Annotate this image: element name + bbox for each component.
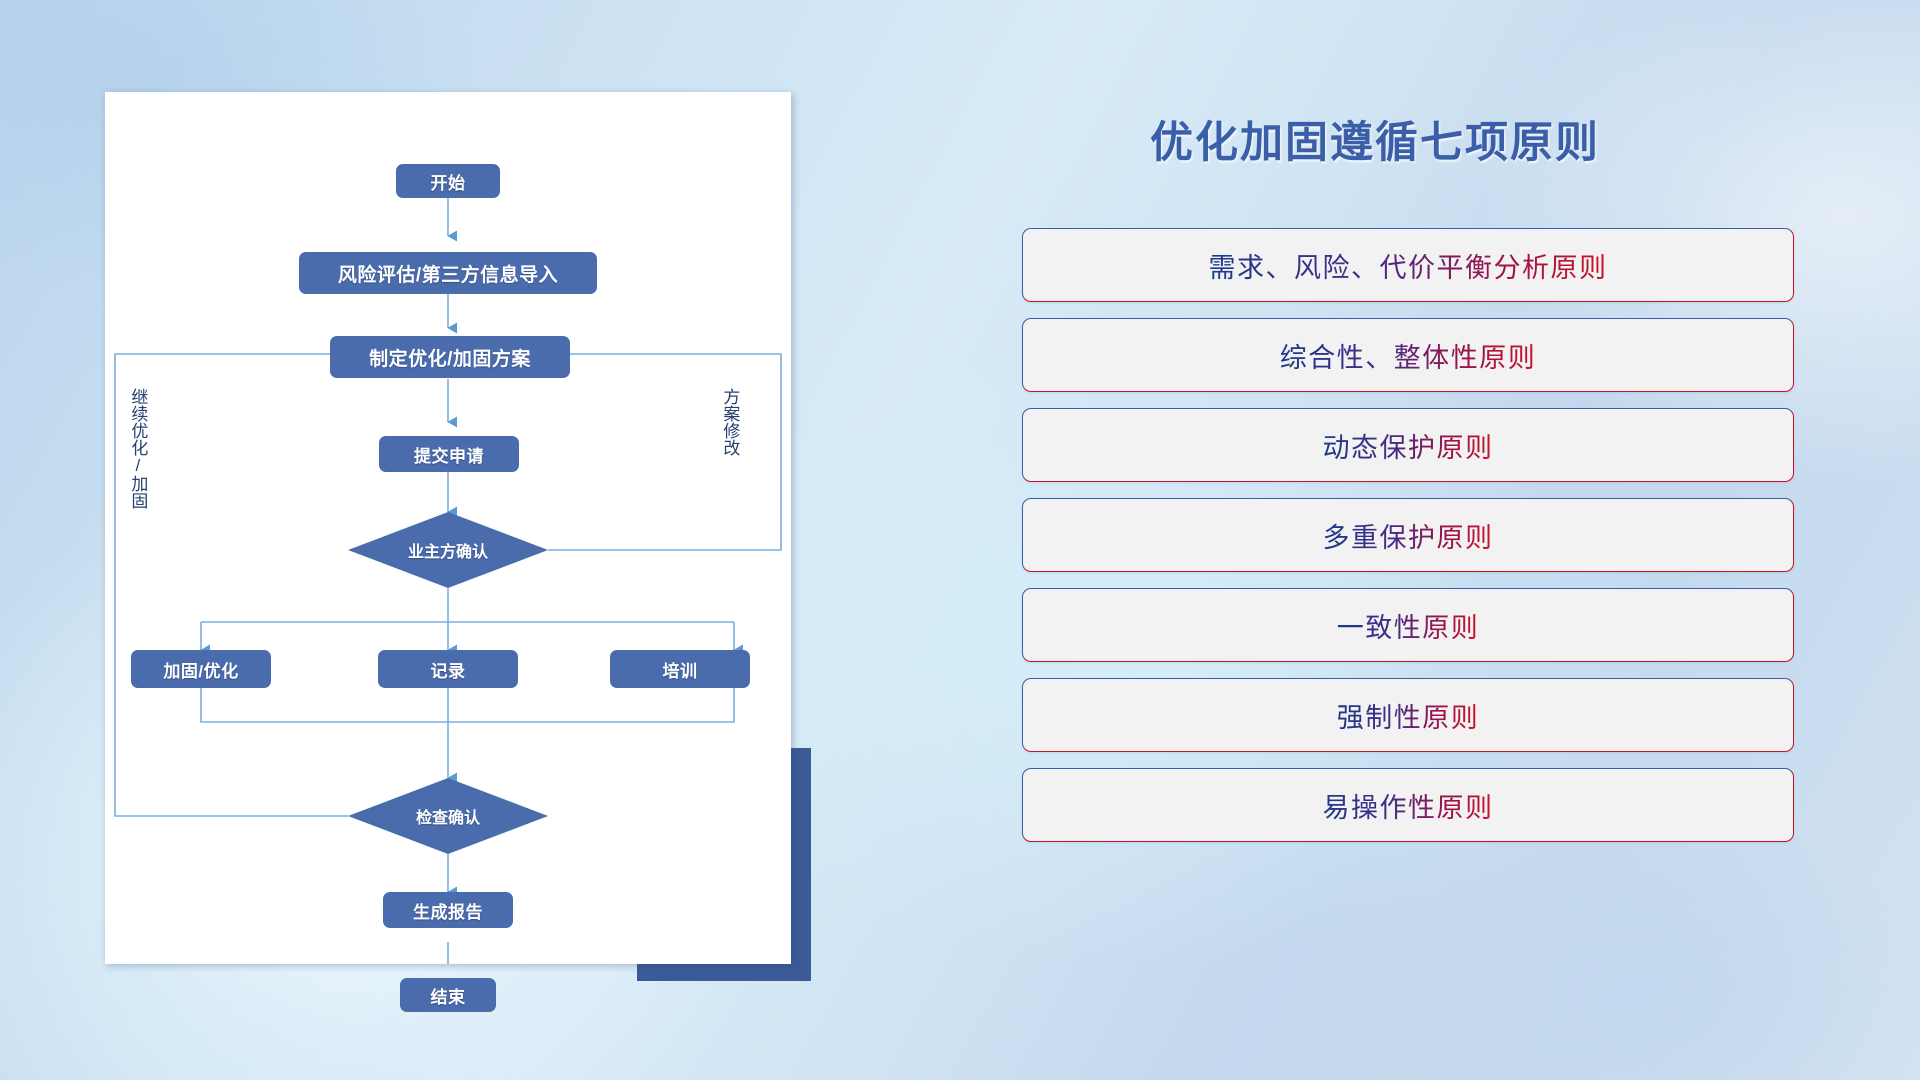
principle-card[interactable]: 多重保护原则 xyxy=(1022,498,1794,572)
principle-card[interactable]: 易操作性原则 xyxy=(1022,768,1794,842)
flow-node-end[interactable]: 结束 xyxy=(400,978,496,1012)
principle-card-label: 综合性、整体性原则 xyxy=(1280,336,1537,375)
principles-list: 需求、风险、代价平衡分析原则 综合性、整体性原则 动态保护原则 多重保护原则 一… xyxy=(1022,228,1794,858)
principle-card-label: 动态保护原则 xyxy=(1323,426,1494,465)
principle-card-label: 需求、风险、代价平衡分析原则 xyxy=(1209,246,1608,285)
flowchart-white-card: 开始 风险评估/第三方信息导入 制定优化/加固方案 提交申请 业主方确认 加固/… xyxy=(105,92,791,964)
principle-card-label: 多重保护原则 xyxy=(1323,516,1494,555)
principle-card[interactable]: 强制性原则 xyxy=(1022,678,1794,752)
principle-card[interactable]: 一致性原则 xyxy=(1022,588,1794,662)
principle-card-label: 强制性原则 xyxy=(1337,696,1480,735)
flow-node-start[interactable]: 开始 xyxy=(396,164,500,198)
flow-node-generate-report[interactable]: 生成报告 xyxy=(383,892,513,928)
flowchart-canvas: 开始 风险评估/第三方信息导入 制定优化/加固方案 提交申请 业主方确认 加固/… xyxy=(105,92,791,964)
principle-card[interactable]: 动态保护原则 xyxy=(1022,408,1794,482)
flow-edge-label-plan-revision: 方案修改 xyxy=(721,388,738,456)
flowchart-panel: 开始 风险评估/第三方信息导入 制定优化/加固方案 提交申请 业主方确认 加固/… xyxy=(0,0,830,1080)
flow-node-submit-application[interactable]: 提交申请 xyxy=(379,436,519,472)
principle-card[interactable]: 综合性、整体性原则 xyxy=(1022,318,1794,392)
principles-title: 优化加固遵循七项原则 xyxy=(830,108,1920,170)
flow-node-plan[interactable]: 制定优化/加固方案 xyxy=(330,336,570,378)
flow-node-risk-assessment[interactable]: 风险评估/第三方信息导入 xyxy=(299,252,597,294)
principle-card-label: 一致性原则 xyxy=(1337,606,1480,645)
flow-node-record[interactable]: 记录 xyxy=(378,650,518,688)
flow-edge-label-continue-optimize: 继续优化/加固 xyxy=(129,388,146,509)
flow-decision-check-confirm[interactable]: 检查确认 xyxy=(348,778,548,854)
flow-node-training[interactable]: 培训 xyxy=(610,650,750,688)
flow-decision-owner-confirm[interactable]: 业主方确认 xyxy=(348,512,548,588)
principles-panel: 优化加固遵循七项原则 需求、风险、代价平衡分析原则 综合性、整体性原则 动态保护… xyxy=(830,0,1920,1080)
flow-node-reinforce[interactable]: 加固/优化 xyxy=(131,650,271,688)
principle-card[interactable]: 需求、风险、代价平衡分析原则 xyxy=(1022,228,1794,302)
principle-card-label: 易操作性原则 xyxy=(1323,786,1494,825)
